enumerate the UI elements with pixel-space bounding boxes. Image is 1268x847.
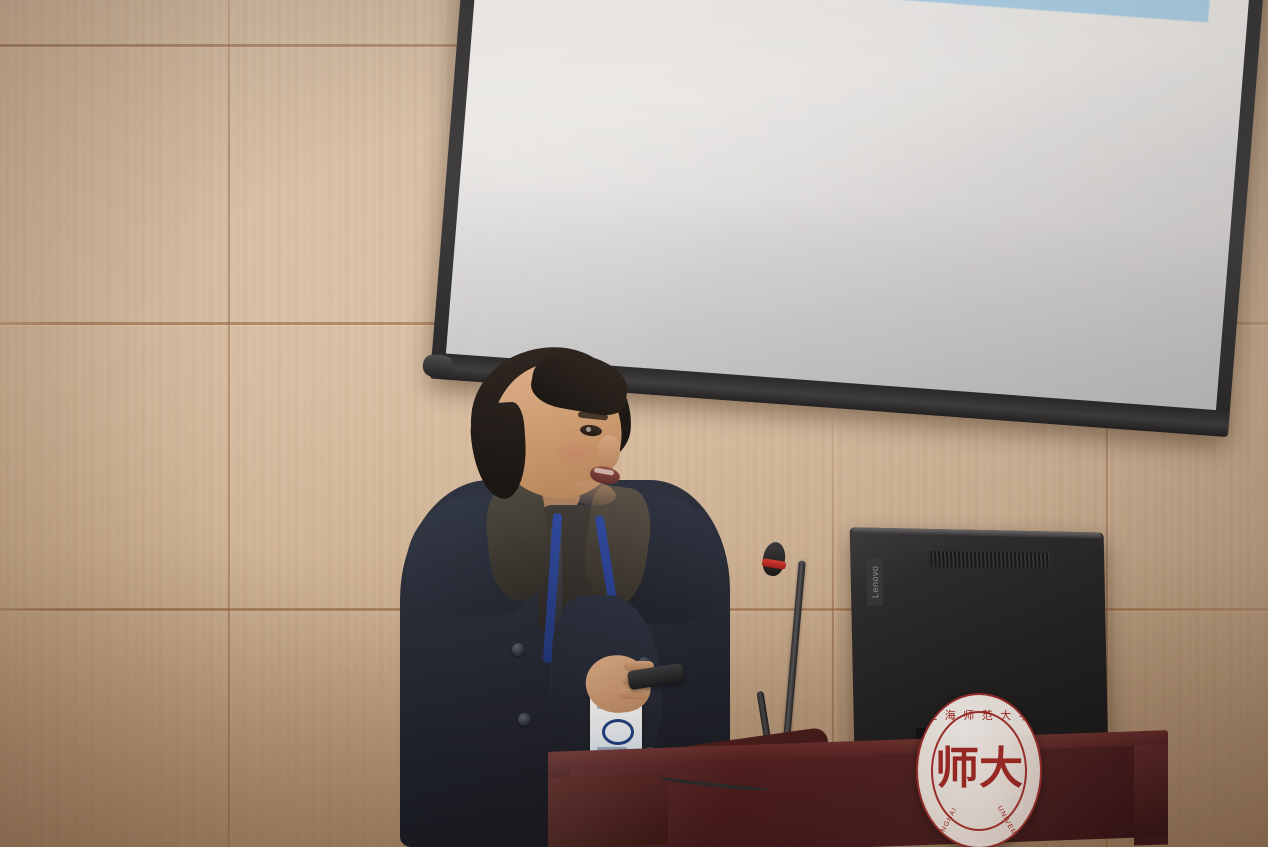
- university-emblem: 上 海 师 范 大 学 师大 SHANGHAI UNIVERSITY: [916, 693, 1042, 847]
- slide-blue-callout: [862, 0, 1221, 23]
- speaker-cheek: [556, 441, 598, 467]
- lenovo-logo-text: Lenovo: [869, 565, 880, 598]
- podium-left-wing: [548, 772, 668, 847]
- speaker-eye-highlight: [586, 427, 591, 432]
- photo-scene: ...milestone by reducing errors ...qubit…: [0, 0, 1268, 847]
- emblem-characters: 师大: [918, 747, 1040, 791]
- monitor-vent-grille: [930, 551, 1050, 570]
- jacket-button: [518, 713, 531, 726]
- lectern-podium: 上 海 师 范 大 学 师大 SHANGHAI UNIVERSITY: [548, 715, 1168, 847]
- podium-right-edge: [1134, 745, 1168, 846]
- lenovo-logo: Lenovo: [866, 558, 883, 606]
- speaker-finger: [618, 689, 648, 699]
- emblem-chinese-arc: 上 海 师 范 大 学: [918, 707, 1040, 723]
- jacket-button: [512, 643, 525, 656]
